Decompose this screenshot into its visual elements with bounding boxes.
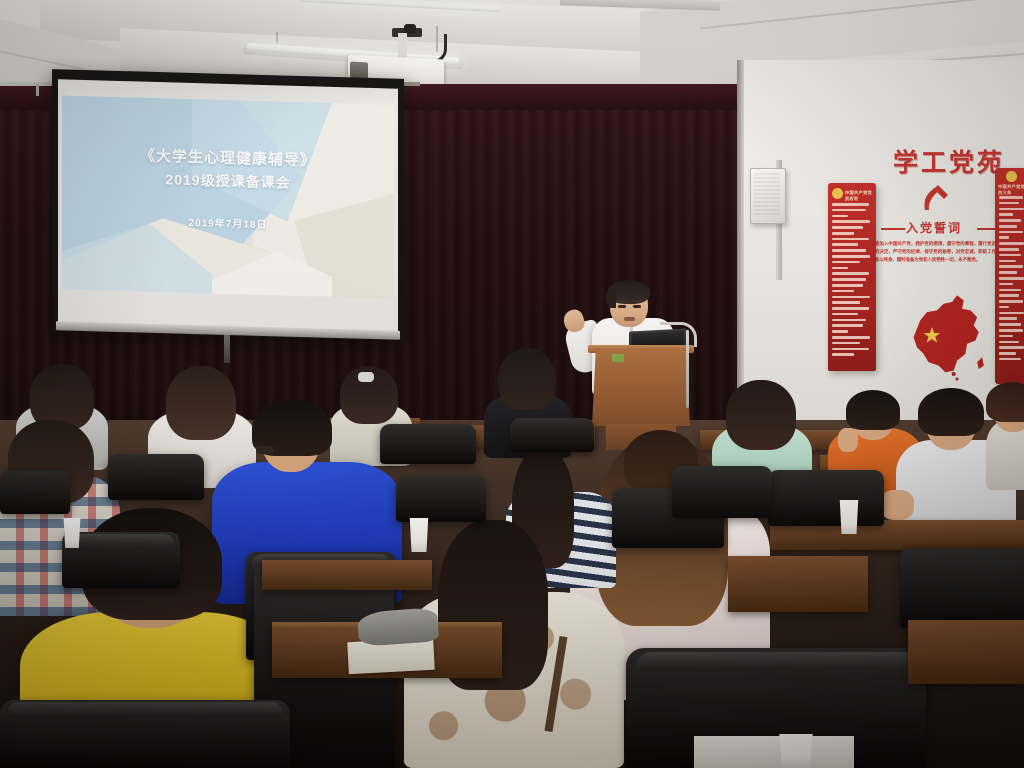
table bbox=[728, 556, 868, 612]
poster-left-body bbox=[828, 203, 876, 359]
chair-highlight bbox=[636, 652, 918, 668]
screen-pull-handle bbox=[224, 335, 230, 363]
attendee-hair bbox=[986, 382, 1024, 422]
wall-display-heading: 学工党苑 bbox=[893, 143, 1005, 179]
eyeglasses-icon bbox=[256, 446, 274, 454]
oath-body-text: 我志愿加入中国共产党，拥护党的纲领，遵守党的章程，履行党员义务，执行党的决定，严… bbox=[866, 240, 1014, 264]
poster-badge-icon bbox=[832, 188, 843, 199]
attendee-hair bbox=[498, 348, 556, 410]
chair bbox=[380, 424, 476, 464]
chair bbox=[672, 466, 772, 518]
attendee-hair bbox=[166, 366, 236, 440]
attendee-hair bbox=[846, 390, 900, 430]
presenter-hair bbox=[606, 288, 616, 308]
slide-date: 2019年7月18日 bbox=[189, 213, 268, 230]
curtain-hook bbox=[36, 84, 39, 96]
table bbox=[908, 620, 1024, 684]
poster-left-heading: 中国共产党党员权利 bbox=[845, 190, 876, 202]
poster-badge-icon bbox=[1006, 171, 1017, 182]
presenter-eye bbox=[618, 305, 626, 308]
attendee-hair bbox=[726, 380, 796, 450]
chair bbox=[396, 476, 486, 522]
wall-poster-left: 中国共产党党员权利 bbox=[828, 183, 876, 371]
chair bbox=[0, 470, 70, 514]
paper-cup bbox=[62, 518, 82, 548]
slide-text-block: 《大学生心理健康辅导》 2019级授课备课会 2019年7月18日 bbox=[62, 95, 394, 298]
paper-cup bbox=[408, 518, 430, 552]
attendee-hair bbox=[918, 388, 984, 436]
oath-divider-left bbox=[881, 228, 905, 230]
hair-clip bbox=[358, 372, 374, 382]
presenter-mouth bbox=[624, 317, 635, 321]
chair-highlight bbox=[8, 702, 282, 716]
attendee-hand bbox=[838, 428, 858, 452]
chair bbox=[108, 454, 204, 500]
chair bbox=[900, 548, 1024, 628]
presenter-eyebrow bbox=[617, 300, 626, 302]
chair-highlight bbox=[68, 534, 174, 546]
poster-right-body bbox=[995, 196, 1024, 364]
poster-right-heading: 中国共产党党员义务 bbox=[998, 184, 1024, 196]
wall-poster-right: 中国共产党党员义务 bbox=[995, 168, 1024, 384]
chair bbox=[510, 418, 594, 452]
chair bbox=[768, 470, 884, 526]
paper-cup bbox=[838, 500, 860, 534]
presenter-eyebrow bbox=[632, 300, 641, 302]
paper-cup bbox=[776, 734, 816, 768]
podium-item bbox=[612, 354, 624, 362]
presenter-eye bbox=[633, 305, 641, 308]
lecture-room-photo: 《大学生心理健康辅导》 2019级授课备课会 2019年7月18日 学工党苑 入… bbox=[0, 0, 1024, 768]
oath-heading: 入党誓词 bbox=[906, 219, 962, 236]
microphone-stand bbox=[686, 330, 689, 408]
attendee-hand bbox=[880, 490, 914, 520]
hammer-and-sickle-icon bbox=[920, 183, 950, 215]
slide-subtitle: 2019级授课备课会 bbox=[165, 169, 290, 192]
china-map-icon bbox=[905, 292, 989, 384]
podium bbox=[592, 348, 690, 426]
table bbox=[262, 560, 432, 590]
speaker-grille bbox=[754, 173, 780, 215]
table bbox=[694, 736, 854, 768]
